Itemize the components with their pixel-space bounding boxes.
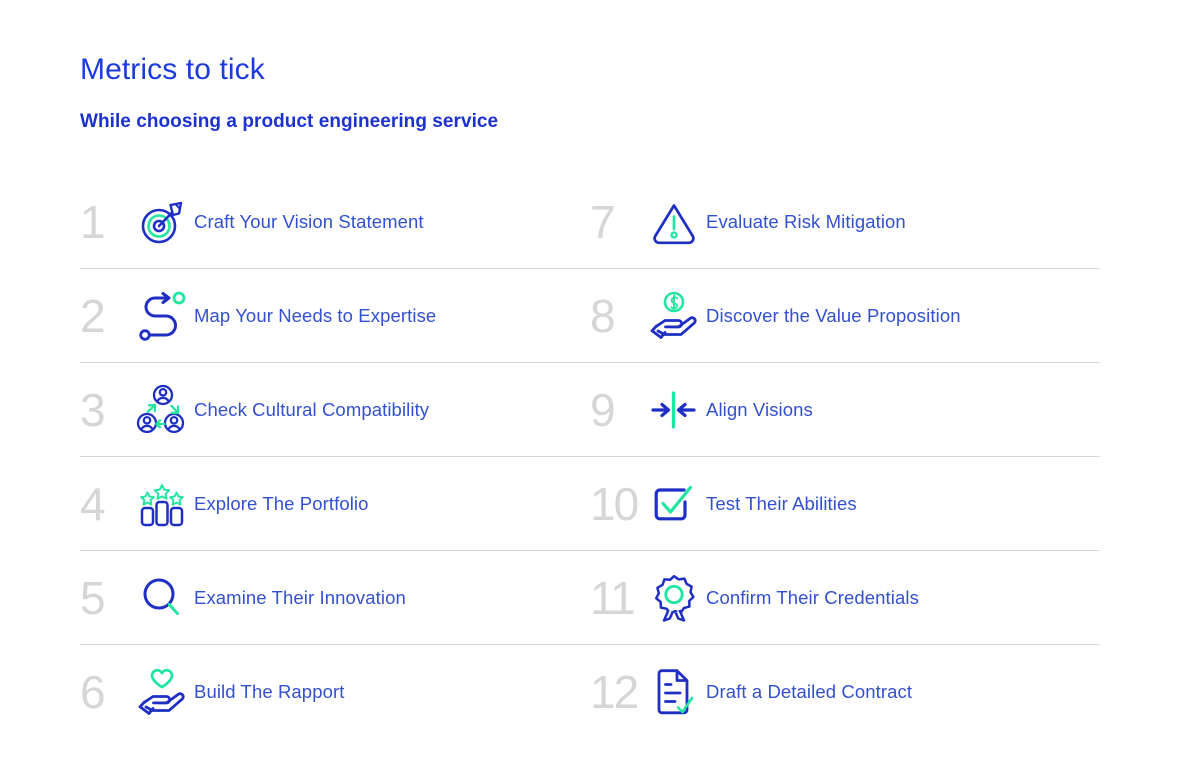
- infographic-page: Metrics to tick While choosing a product…: [0, 0, 1200, 780]
- magnifier-icon: [136, 572, 188, 624]
- metric-label: Build The Rapport: [194, 680, 584, 703]
- metric-item-12[interactable]: 12 Draft a Detailed Contract: [590, 645, 1100, 739]
- page-subtitle: While choosing a product engineering ser…: [80, 111, 1120, 134]
- award-ribbon-icon: [648, 572, 700, 624]
- header: Metrics to tick While choosing a product…: [80, 52, 1120, 134]
- metric-label: Evaluate Risk Mitigation: [706, 210, 1094, 233]
- page-title: Metrics to tick: [80, 52, 1120, 88]
- align-arrows-icon: [648, 384, 700, 436]
- metric-label: Check Cultural Compatibility: [194, 398, 584, 421]
- metric-number: 7: [590, 199, 648, 245]
- metric-number: 3: [80, 387, 136, 433]
- metric-number: 2: [80, 293, 136, 339]
- metric-item-10[interactable]: 10 Test Their Abilities: [590, 457, 1100, 551]
- metric-item-4[interactable]: 4 Explore The Portfolio: [80, 457, 590, 551]
- metric-item-3[interactable]: 3: [80, 363, 590, 457]
- metric-item-8[interactable]: 8 Discover the Value Proposition: [590, 269, 1100, 363]
- metric-item-6[interactable]: 6 Build The Rapport: [80, 645, 590, 739]
- winding-path-icon: [136, 290, 188, 342]
- metric-label: Map Your Needs to Expertise: [194, 304, 584, 327]
- metric-number: 11: [590, 575, 648, 621]
- metric-label: Explore The Portfolio: [194, 492, 584, 515]
- metric-number: 4: [80, 481, 136, 527]
- checkbox-check-icon: [648, 478, 700, 530]
- metric-label: Discover the Value Proposition: [706, 304, 1094, 327]
- people-network-icon: [136, 384, 188, 436]
- hand-holding-coin-icon: [648, 290, 700, 342]
- metrics-grid: 1 Craft Your Vision Statement 7: [80, 175, 1100, 739]
- metric-label: Test Their Abilities: [706, 492, 1094, 515]
- metric-item-11[interactable]: 11 Confirm Their Credentials: [590, 551, 1100, 645]
- contract-document-icon: [648, 666, 700, 718]
- metric-item-5[interactable]: 5 Examine Their Innovation: [80, 551, 590, 645]
- metric-item-7[interactable]: 7 Evaluate Risk Mitigation: [590, 175, 1100, 269]
- warning-triangle-icon: [648, 196, 700, 248]
- metric-label: Examine Their Innovation: [194, 586, 584, 609]
- metric-label: Confirm Their Credentials: [706, 586, 1094, 609]
- metric-label: Craft Your Vision Statement: [194, 210, 584, 233]
- metric-number: 6: [80, 669, 136, 715]
- metric-item-1[interactable]: 1 Craft Your Vision Statement: [80, 175, 590, 269]
- metric-number: 9: [590, 387, 648, 433]
- metric-label: Align Visions: [706, 398, 1094, 421]
- podium-stars-icon: [136, 478, 188, 530]
- metric-item-9[interactable]: 9 Align Visions: [590, 363, 1100, 457]
- metric-number: 12: [590, 669, 648, 715]
- hand-holding-heart-icon: [136, 666, 188, 718]
- metric-number: 10: [590, 481, 648, 527]
- metric-number: 5: [80, 575, 136, 621]
- metric-item-2[interactable]: 2 Map Your Needs to Expertise: [80, 269, 590, 363]
- metric-label: Draft a Detailed Contract: [706, 680, 1094, 703]
- metric-number: 8: [590, 293, 648, 339]
- target-arrow-icon: [136, 196, 188, 248]
- metric-number: 1: [80, 199, 136, 245]
